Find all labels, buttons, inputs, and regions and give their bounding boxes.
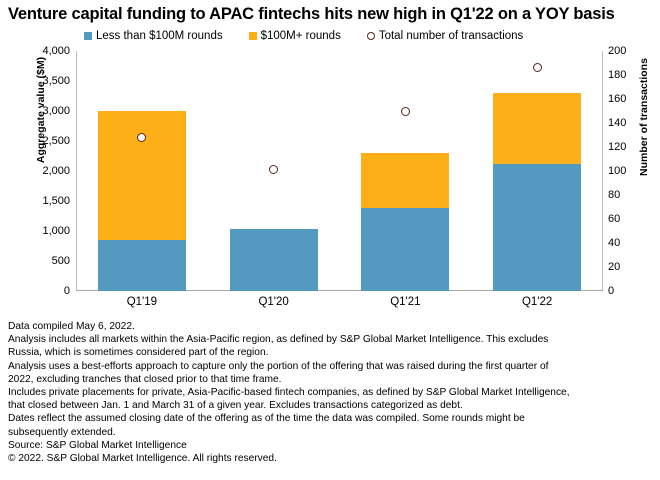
y-axis-right-tick-label: 80 — [608, 190, 620, 201]
footnote-line: subsequently extended. — [8, 426, 652, 439]
y-axis-right-tick-label: 140 — [608, 118, 626, 129]
footnote-line: Russia, which is sometimes considered pa… — [8, 346, 652, 359]
footnote-line: 2022, excluding tranches that closed pri… — [8, 373, 652, 386]
bar-group-Q121 — [340, 51, 472, 291]
footnote-line: Includes private placements for private,… — [8, 386, 652, 399]
y-axis-left-tick-label: 1,000 — [42, 226, 70, 237]
footnote-line: Analysis includes all markets within the… — [8, 333, 652, 346]
chart-footnotes: Data compiled May 6, 2022.Analysis inclu… — [8, 320, 652, 465]
x-axis-tick-label: Q1'21 — [340, 296, 472, 308]
bar-group-Q120 — [208, 51, 340, 291]
legend-item-less-than-100m[interactable]: Less than $100M rounds — [84, 30, 223, 42]
plot-area — [76, 51, 603, 291]
chart-title: Venture capital funding to APAC fintechs… — [8, 4, 656, 24]
y-axis-right-tick-label: 0 — [608, 286, 614, 297]
footnote-line: that closed between Jan. 1 and March 31 … — [8, 399, 652, 412]
y-axis-right-tick-label: 20 — [608, 262, 620, 273]
bar-segment-100m-plus[interactable] — [98, 111, 186, 240]
x-axis-tick-label: Q1'20 — [208, 296, 340, 308]
footnote-line: Dates reflect the assumed closing date o… — [8, 412, 652, 425]
square-swatch-icon — [249, 32, 257, 40]
chart-legend: Less than $100M rounds $100M+ rounds Tot… — [84, 28, 523, 44]
transaction-count-marker[interactable] — [269, 165, 278, 174]
y-axis-left-title: Aggregate value ($M) — [35, 40, 47, 180]
square-swatch-icon — [84, 32, 92, 40]
bar-series-container — [76, 51, 603, 291]
legend-label: Less than $100M rounds — [96, 30, 223, 42]
bar-segment-less-than-100m[interactable] — [98, 240, 186, 291]
footnote-line: Analysis uses a best-efforts approach to… — [8, 360, 652, 373]
y-axis-left-tick-label: 0 — [64, 286, 70, 297]
x-axis-category-labels: Q1'19Q1'20Q1'21Q1'22 — [76, 296, 603, 308]
circle-ring-marker-icon — [367, 32, 375, 40]
bar-group-Q122 — [471, 51, 603, 291]
x-axis-tick-label: Q1'22 — [471, 296, 603, 308]
x-axis-tick-label: Q1'19 — [76, 296, 208, 308]
y-axis-right-tick-label: 120 — [608, 142, 626, 153]
stacked-bar[interactable] — [493, 93, 581, 291]
transaction-count-marker[interactable] — [533, 63, 542, 72]
legend-label: Total number of transactions — [379, 30, 523, 42]
transaction-count-marker[interactable] — [401, 107, 410, 116]
y-axis-left-tick-label: 500 — [52, 256, 70, 267]
chart-figure: Venture capital funding to APAC fintechs… — [0, 0, 660, 480]
legend-item-total-transactions[interactable]: Total number of transactions — [367, 30, 523, 42]
bar-group-Q119 — [76, 51, 208, 291]
stacked-bar[interactable] — [230, 229, 318, 291]
bar-segment-100m-plus[interactable] — [361, 153, 449, 208]
y-axis-right-tick-label: 180 — [608, 70, 626, 81]
y-axis-right-title: Number of transactions — [638, 47, 650, 187]
bar-segment-less-than-100m[interactable] — [230, 229, 318, 291]
y-axis-right-tick-label: 200 — [608, 46, 626, 57]
y-axis-right-tick-label: 100 — [608, 166, 626, 177]
footnote-line: © 2022. S&P Global Market Intelligence. … — [8, 452, 652, 465]
y-axis-right-ticks: 200180160140120100806040200 — [608, 51, 642, 291]
bar-segment-100m-plus[interactable] — [493, 93, 581, 164]
bar-segment-less-than-100m[interactable] — [493, 164, 581, 291]
footnote-line: Source: S&P Global Market Intelligence — [8, 439, 652, 452]
bar-segment-less-than-100m[interactable] — [361, 208, 449, 291]
y-axis-right-tick-label: 40 — [608, 238, 620, 249]
legend-item-100m-plus[interactable]: $100M+ rounds — [249, 30, 341, 42]
legend-label: $100M+ rounds — [261, 30, 341, 42]
stacked-bar[interactable] — [361, 153, 449, 291]
y-axis-right-tick-label: 60 — [608, 214, 620, 225]
y-axis-right-tick-label: 160 — [608, 94, 626, 105]
footnote-line: Data compiled May 6, 2022. — [8, 320, 652, 333]
y-axis-left-tick-label: 1,500 — [42, 196, 70, 207]
